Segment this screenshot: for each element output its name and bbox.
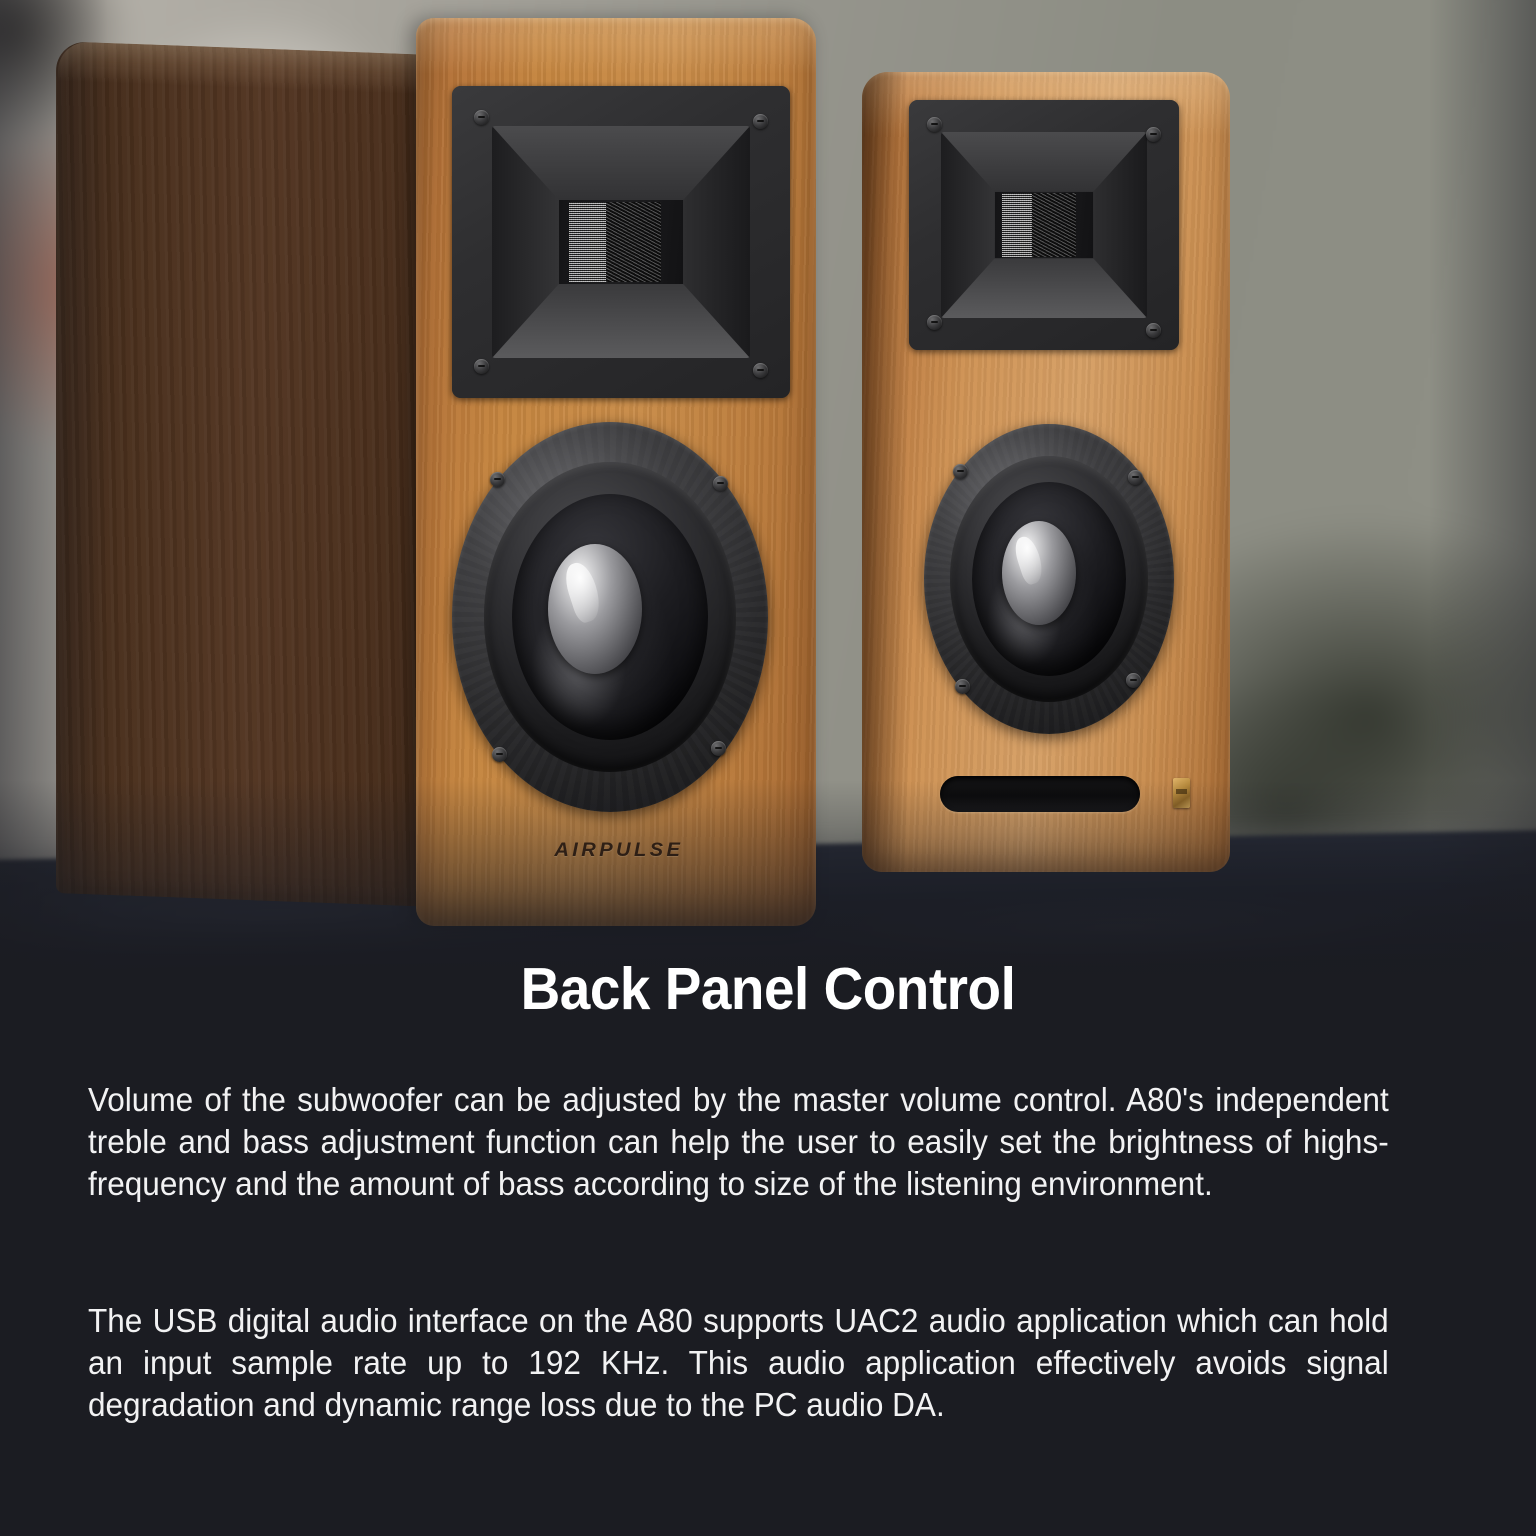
page-title: Back Panel Control (54, 960, 1482, 1019)
product-photo: AIRPULSE (0, 0, 1536, 975)
body-paragraph-1: Volume of the subwoofer can be adjusted … (88, 1079, 1389, 1205)
text-content-block: Back Panel Control Volume of the subwoof… (0, 960, 1536, 1019)
body-paragraph-2: The USB digital audio interface on the A… (88, 1300, 1389, 1426)
product-feature-page: AIRPULSE Back Panel Control Volume of th… (0, 0, 1536, 1536)
photo-bottom-fade (0, 780, 1536, 975)
